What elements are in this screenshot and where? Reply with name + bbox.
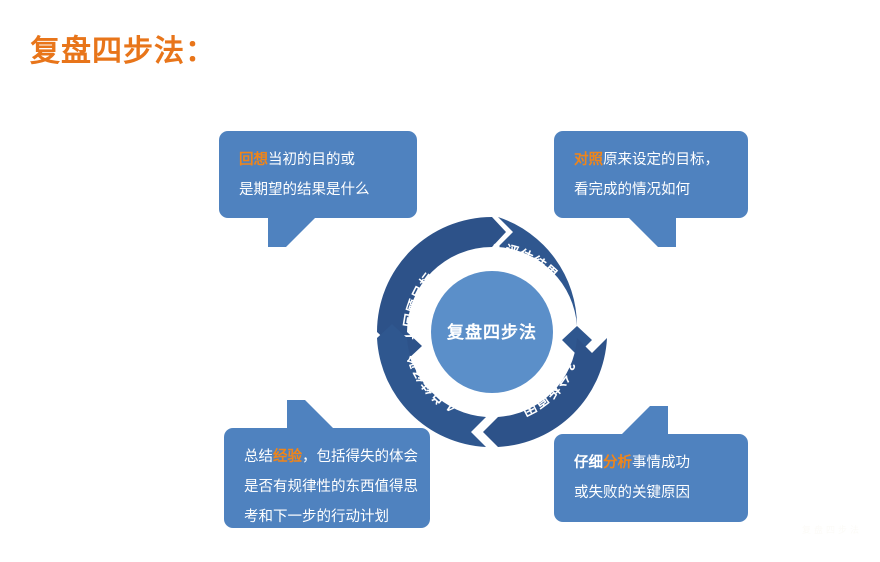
callout-analyze-line-1-rest: 事情成功 [632,455,690,471]
callout-analyze-line-1: 仔细分析事情成功 [574,448,728,478]
watermark: 复盘四步法 [802,523,862,536]
callout-recall[interactable]: 回想当初的目的或 是期望的结果是什么 [219,131,417,218]
cycle-hub: 复盘四步法 [431,271,553,393]
callout-recall-keyword: 回想 [239,152,268,168]
callout-compare-line-1-rest: 原来设定的目标， [603,152,719,168]
callout-recall-line-2: 是期望的结果是什么 [239,175,397,205]
callout-compare-line-2: 看完成的情况如何 [574,175,728,205]
callout-analyze[interactable]: 仔细分析事情成功 或失败的关键原因 [554,434,748,522]
callout-analyze-line-1-pre: 仔细 [574,455,603,471]
callout-analyze-line-2: 或失败的关键原因 [574,478,728,508]
callout-analyze-keyword: 分析 [603,455,632,471]
callout-recall-line-1-rest: 当初的目的或 [268,152,355,168]
callout-recall-line-1: 回想当初的目的或 [239,145,397,175]
callout-compare-tail [628,217,676,247]
callout-summary-line-1: 总结经验，包括得失的体会 [244,442,410,472]
callout-summary-line-3: 考和下一步的行动计划 [244,502,410,532]
cycle-diagram: 1.回顾目标 2.评估结果 3.分析原因 4.总结经验 [372,212,612,452]
callout-summary-line-1-pre: 总结 [244,449,273,465]
callout-summary-line-1-rest: ，包括得失的体会 [302,449,418,465]
callout-analyze-tail [620,406,668,436]
callout-compare-line-1: 对照原来设定的目标， [574,145,728,175]
page-title: 复盘四步法： [30,26,216,70]
callout-summary-keyword: 经验 [273,449,302,465]
callout-summary[interactable]: 总结经验，包括得失的体会 是否有规律性的东西值得思 考和下一步的行动计划 [224,428,430,528]
callout-compare[interactable]: 对照原来设定的目标， 看完成的情况如何 [554,131,748,218]
callout-compare-keyword: 对照 [574,152,603,168]
callout-recall-tail [268,217,316,247]
cycle-hub-label: 复盘四步法 [446,322,537,342]
callout-summary-tail [287,400,335,430]
callout-summary-line-2: 是否有规律性的东西值得思 [244,472,410,502]
